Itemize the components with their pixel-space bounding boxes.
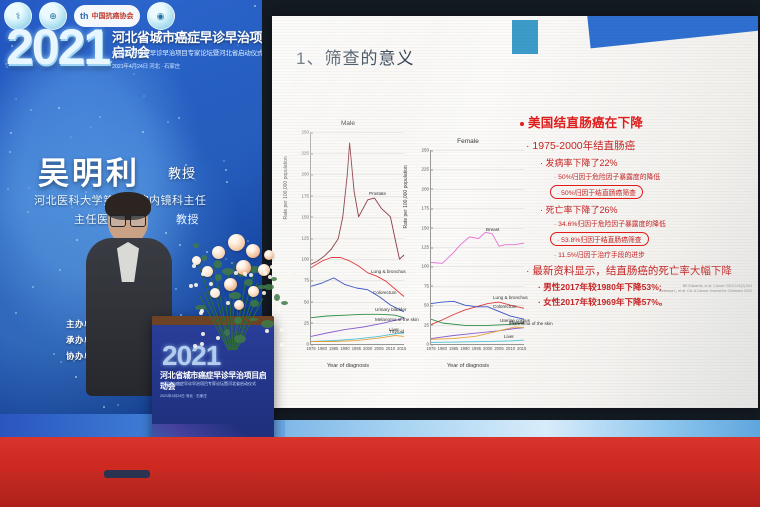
slide-citation: BK Edwards, et al. Cancer 2010;116(3):54… [632,284,752,294]
backdrop-speck [30,109,32,111]
chart-male-plot-area: 0255075100125150175200225250197519801985… [310,132,404,345]
series-label-thyroid: Thyroid [389,329,404,334]
x-tick-label: 1995 [472,346,481,351]
speaker-glasses-icon [110,215,146,225]
series-label-colorectum: Colorectum [493,304,517,309]
flower-white-spray [201,272,205,276]
presentation-slide: 1、筛查的意义 Male 025507510012515017520022525… [272,16,758,408]
y-tick-label: 25 [424,322,431,327]
flower-white-spray [243,272,247,276]
charts-container: Male 02550751001251501752002252501975198… [290,120,530,375]
y-tick-label: 200 [301,172,311,177]
flower-white-spray [287,272,291,276]
x-tick-label: 2010 [386,346,395,351]
backdrop-speck [103,406,105,408]
chart-lines [431,150,524,344]
flower-white-spray [209,282,213,286]
backdrop-speck [90,126,92,128]
backdrop-speck [15,312,17,314]
podium-date: 2021年4月24日 河北 · 石家庄 [160,394,207,399]
y-tick-label: 175 [301,193,311,198]
backdrop-speck [143,95,145,97]
chart-male-title: Male [290,120,406,127]
chart-female-xlabel: Year of diagnosis [410,363,526,369]
flower-bloom [234,300,244,310]
y-tick-label: 250 [421,148,431,153]
backdrop-year: 2021 [6,24,109,70]
flower-white-spray [268,275,272,279]
flower-leaf [281,301,288,305]
bullet-heading: 美国结直肠癌在下降 [520,112,748,131]
y-tick-label: 100 [301,257,311,262]
flower-bloom [228,234,245,251]
chart-male: Male 02550751001251501752002252501975198… [290,120,406,375]
y-tick-label: 50 [304,299,311,304]
cable-box [104,470,150,478]
backdrop-speck [223,160,225,162]
backdrop-speck [76,239,78,241]
y-tick-label: 100 [421,264,431,269]
backdrop-speck [75,376,77,378]
flower-bloom [210,288,220,298]
y-tick-label: 150 [301,214,311,219]
bullet-level3-b3: · 11.5%归因于治疗手段的进步 [554,249,748,259]
chart-lines [311,132,404,344]
backdrop-date: 2021年4月24日 河北 · 石家庄 [112,62,284,70]
bullet-level1-b: · 最新资料显示，结直肠癌的死亡率大幅下降 [526,263,748,278]
logo-circle-3-icon: ◉ [147,2,175,30]
y-tick-label: 125 [421,245,431,250]
series-label-urinary-bladder: Urinary bladder [375,307,406,312]
x-tick-label: 1980 [318,346,327,351]
x-tick-label: 2005 [494,346,503,351]
flower-leaf [201,255,207,261]
series-label-breast: Breast [486,227,499,232]
y-tick-label: 250 [301,130,311,135]
flower-white-spray [277,308,281,312]
series-prostate [311,143,404,264]
speaker-affiliation-line3: 教授 [176,211,199,227]
flower-leaf [193,243,199,248]
x-tick-label: 2000 [483,346,492,351]
backdrop-speck [27,211,29,213]
bullet-level3-a1: · 50%归因于危险因子暴露度的降低 [554,171,748,181]
flower-white-spray [249,273,253,277]
series-liver [431,340,524,342]
bullet-dot-icon [520,122,524,126]
x-tick-label: 1975 [426,346,435,351]
chart-female-title: Female [410,138,526,145]
series-label-lung-bronchus: Lung & bronchus [371,269,406,274]
chart-female: Female 025507510012515017520022525019751… [410,138,526,375]
citation-line-2: Rebecca L, et al. CA: A Cancer Journal f… [632,289,752,294]
y-tick-label: 75 [304,278,311,283]
backdrop-speck [59,269,61,271]
chart-male-xlabel: Year of diagnosis [290,363,406,369]
flower-white-spray [193,344,197,348]
slide-decor-block [512,20,538,54]
flower-white-spray [200,309,204,313]
flower-leaf [249,318,258,321]
backdrop-speck [53,353,55,355]
bullet-heading-text: 美国结直肠癌在下降 [528,116,643,130]
backdrop-speck [117,404,119,406]
backdrop-speck [9,151,11,153]
slide-bullet-list: 美国结直肠癌在下降 · 1975-2000年结直肠癌 · 发病率下降了22% ·… [520,112,748,310]
series-label-colorectum: Colorectum [373,290,397,295]
flower-bloom [248,286,259,297]
bullet-level1-a: · 1975-2000年结直肠癌 [526,138,748,153]
flower-white-spray [270,265,274,269]
backdrop-speck [32,286,34,288]
backdrop-speck [226,181,228,183]
flower-bloom [224,278,237,291]
y-tick-label: 150 [421,225,431,230]
flower-white-spray [280,343,284,347]
backdrop-speck [15,98,17,100]
chart-female-plot-area: 0255075100125150175200225250197519801985… [430,150,524,345]
flower-white-spray [226,301,230,305]
y-tick-label: 175 [421,206,431,211]
flower-white-spray [201,332,205,336]
backdrop-speck [254,5,256,7]
flower-bloom [264,250,274,260]
grid-line [431,344,524,345]
bullet-level2-d: · 女性2017年较1969年下降57%。 [538,296,748,308]
x-tick-label: 2010 [506,346,515,351]
series-label-liver: Liver [504,334,514,339]
backdrop-subtitle: 中国城市癌症早诊早治项目专家论坛暨河北省启动仪式 2021 [112,50,284,58]
flower-white-spray [262,291,266,295]
flower-leaf [264,284,274,290]
x-tick-label: 2015 [517,346,526,351]
series-label-prostate: Prostate [369,191,386,196]
bullet-level3-b2-highlighted: · 53.8%归因于结直肠癌筛查 [550,232,649,246]
slide-decor-bar [586,16,758,48]
flower-leaf [224,329,230,336]
backdrop-speck [167,121,169,123]
y-tick-label: 225 [301,151,311,156]
flower-leaf [214,260,222,268]
bullet-level2-a: · 发病率下降了22% [540,156,748,169]
x-tick-label: 1990 [340,346,349,351]
series-label-thyroid: Thyroid [509,320,524,325]
x-tick-label: 2015 [397,346,406,351]
flower-white-spray [194,283,198,287]
flower-white-spray [285,282,289,286]
y-tick-label: 25 [304,320,311,325]
flower-leaf [229,292,241,299]
series-breast [431,232,524,263]
backdrop-speck [28,187,30,189]
flower-white-spray [192,264,196,268]
chart-female-ylabel: Rate per 100,000 population [403,165,409,228]
bullet-level3-a2-highlighted: · 50%归因于结直肠癌筛查 [550,185,643,199]
conference-photo: ⚕ ⊕ th 中国抗癌协会 ◉ 2021 河北省城市癌症早诊早治项目启动会 中国… [0,0,760,507]
x-tick-label: 1980 [438,346,447,351]
x-tick-label: 1995 [352,346,361,351]
flower-white-spray [216,336,220,340]
flower-arrangement [176,230,292,350]
backdrop-speck [225,169,227,171]
backdrop-speck [178,117,180,119]
backdrop-speck [60,361,62,363]
flower-leaf [234,317,242,324]
y-tick-label: 125 [301,236,311,241]
flower-white-spray [263,271,267,275]
y-tick-label: 200 [421,186,431,191]
flower-leaf [250,300,259,307]
flower-leaf [261,320,274,328]
flower-bloom [246,244,260,258]
x-tick-label: 1975 [306,346,315,351]
speaker-name: 吴明利 [38,148,140,193]
x-tick-label: 2005 [374,346,383,351]
backdrop-speck [10,132,12,134]
x-tick-label: 2000 [363,346,372,351]
backdrop-speck [70,136,72,138]
flower-white-spray [280,328,284,332]
flower-leaf [244,279,253,286]
y-tick-label: 50 [424,303,431,308]
flower-white-spray [277,276,281,280]
flower-leaf [215,274,222,281]
backdrop-speck [142,131,144,133]
flower-white-spray [265,329,269,333]
backdrop-speck [133,73,135,75]
flower-white-spray [200,342,204,346]
backdrop-speck [58,107,60,109]
flower-white-spray [234,271,238,275]
bullet-level3-b1: · 34.6%归因于危险因子暴露度的降低 [554,218,748,228]
chart-male-ylabel: Rate per 100,000 population [283,156,289,219]
speaker-rank: 教授 [168,163,196,182]
flower-leaf [234,335,246,343]
flower-bloom [212,246,225,259]
flower-leaf [222,268,234,275]
slide-title: 1、筛查的意义 [296,44,414,69]
y-tick-label: 75 [424,283,431,288]
bullet-level2-b: · 死亡率下降了26% [540,203,748,216]
podium-subtitle: 中国城市癌症早诊早治项目专家论坛暨河北省启动仪式 [160,381,268,386]
x-tick-label: 1985 [329,346,338,351]
x-tick-label: 1990 [460,346,469,351]
backdrop-speck [7,188,9,190]
backdrop-speck [99,116,101,118]
flower-white-spray [189,284,193,288]
grid-line [311,344,404,345]
x-tick-label: 1985 [449,346,458,351]
y-tick-label: 225 [421,167,431,172]
flower-leaf [274,294,280,301]
